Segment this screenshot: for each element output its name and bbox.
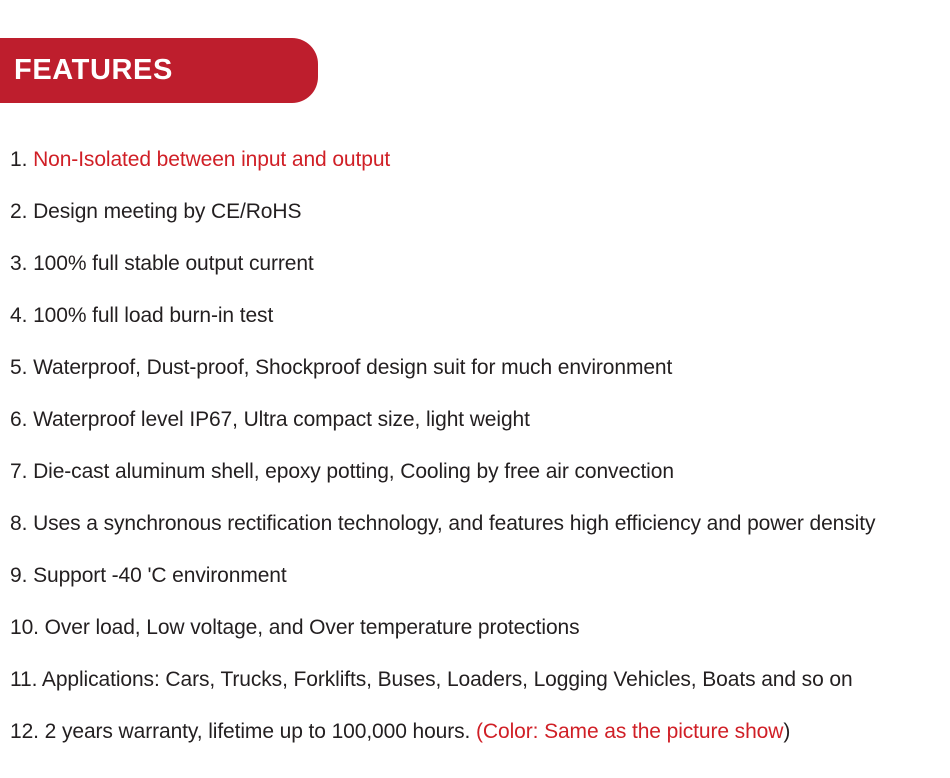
list-item: 5. Waterproof, Dust-proof, Shockproof de… (0, 342, 950, 394)
list-item-number: 4. (10, 304, 27, 327)
list-item-prefix: 2 years warranty, lifetime up to 100,000… (45, 720, 476, 743)
list-item-number: 12. (10, 720, 39, 743)
list-item-number: 3. (10, 252, 27, 275)
list-item-text: Over load, Low voltage, and Over tempera… (45, 616, 580, 639)
page-title: FEATURES (0, 56, 173, 85)
list-item-tail: ) (783, 720, 790, 743)
list-item-text: Non-Isolated between input and output (33, 148, 390, 171)
list-item: 12. 2 years warranty, lifetime up to 100… (0, 706, 950, 758)
list-item-text: Uses a synchronous rectification technol… (33, 512, 875, 535)
list-item-text: Support -40 'C environment (33, 564, 287, 587)
list-item-number: 8. (10, 512, 27, 535)
list-item-number: 6. (10, 408, 27, 431)
list-item-number: 7. (10, 460, 27, 483)
list-item-number: 1. (10, 148, 27, 171)
list-item-text: Die-cast aluminum shell, epoxy potting, … (33, 460, 674, 483)
list-item: 9. Support -40 'C environment (0, 550, 950, 602)
list-item-text: 100% full stable output current (33, 252, 314, 275)
list-item-text: Waterproof, Dust-proof, Shockproof desig… (33, 356, 672, 379)
list-item: 10. Over load, Low voltage, and Over tem… (0, 602, 950, 654)
list-item-number: 11. (10, 668, 37, 691)
list-item-number: 9. (10, 564, 27, 587)
features-list: 1. Non-Isolated between input and output… (0, 134, 950, 758)
list-item: 1. Non-Isolated between input and output (0, 134, 950, 186)
list-item-number: 10. (10, 616, 39, 639)
list-item: 11. Applications: Cars, Trucks, Forklift… (0, 654, 950, 706)
list-item-text: 100% full load burn-in test (33, 304, 273, 327)
list-item-number: 2. (10, 200, 27, 223)
list-item: 4. 100% full load burn-in test (0, 290, 950, 342)
list-item: 3. 100% full stable output current (0, 238, 950, 290)
list-item-text: Design meeting by CE/RoHS (33, 200, 301, 223)
list-item-text: Waterproof level IP67, Ultra compact siz… (33, 408, 530, 431)
list-item: 2. Design meeting by CE/RoHS (0, 186, 950, 238)
list-item: 8. Uses a synchronous rectification tech… (0, 498, 950, 550)
list-item: 6. Waterproof level IP67, Ultra compact … (0, 394, 950, 446)
list-item-number: 5. (10, 356, 27, 379)
list-item-text: Applications: Cars, Trucks, Forklifts, B… (42, 668, 853, 691)
features-banner: FEATURES (0, 38, 318, 103)
list-item-text: (Color: Same as the picture show (476, 720, 783, 743)
list-item: 7. Die-cast aluminum shell, epoxy pottin… (0, 446, 950, 498)
